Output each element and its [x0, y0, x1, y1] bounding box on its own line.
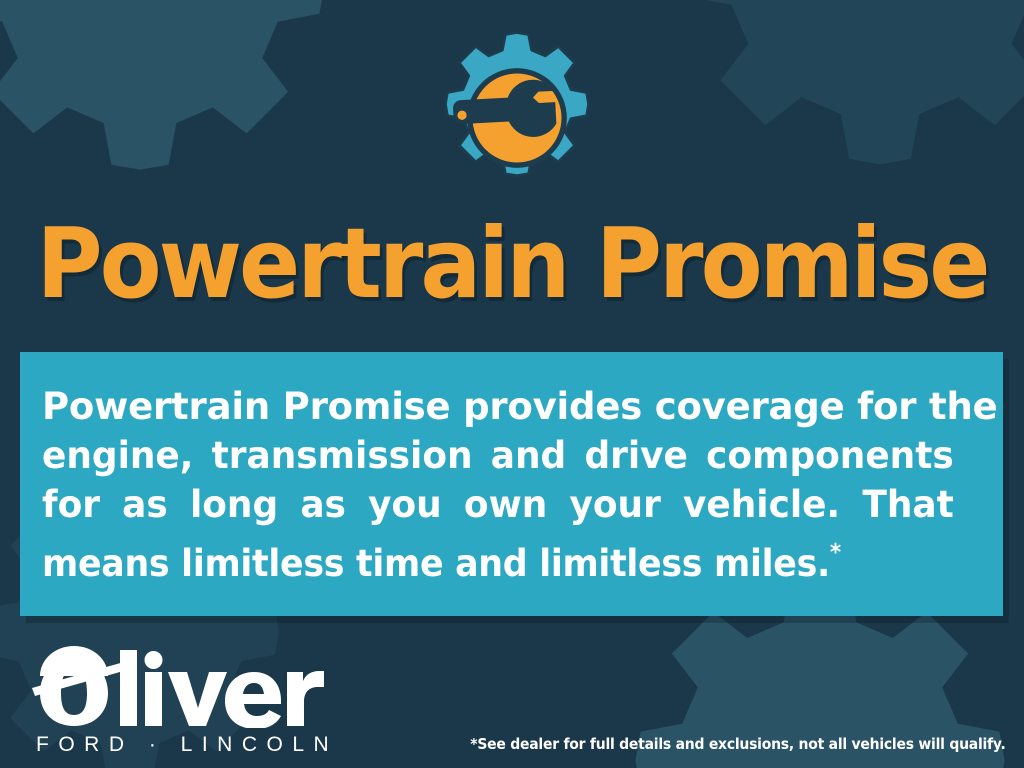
letter-i-stem [145, 672, 162, 726]
body-line-3: for as long as you own your vehicle. Tha… [42, 480, 954, 529]
oliver-wordmark [28, 640, 328, 728]
letter-l [120, 650, 137, 726]
gear-wrench-icon-svg [428, 28, 606, 208]
powertrain-promise-poster: Powertrain Promise Powertrain Promise pr… [0, 0, 1024, 768]
body-word: as [300, 480, 346, 529]
letter-r [287, 671, 324, 726]
body-word: for [42, 480, 100, 529]
description-text: Powertrain Promise provides coverage for… [42, 382, 982, 588]
body-line-4: means limitless time and limitless miles… [42, 529, 926, 588]
body-word: transmission [212, 431, 473, 480]
body-word: you [368, 480, 442, 529]
body-line-1: Powertrain Promise provides coverage for… [42, 382, 982, 431]
body-word: your [569, 480, 660, 529]
description-panel: Powertrain Promise provides coverage for… [20, 352, 1003, 616]
body-line-2: engine, transmission and drive component… [42, 431, 954, 480]
body-word: engine, [42, 431, 193, 480]
body-word: vehicle. [683, 480, 840, 529]
footnote-marker: * [830, 540, 841, 566]
dealer-logo-subtitle: FORD · LINCOLN [36, 733, 338, 757]
letter-e [225, 672, 281, 728]
body-line-4-text: means limitless time and limitless miles… [42, 542, 830, 585]
body-word: long [190, 480, 278, 529]
body-word: and [491, 431, 566, 480]
letter-v [168, 672, 227, 726]
body-word: own [464, 480, 547, 529]
gear-wrench-icon [428, 28, 606, 208]
body-word: as [122, 480, 168, 529]
body-word: drive [584, 431, 687, 480]
letter-o [40, 658, 108, 726]
letter-i-dot [145, 651, 163, 669]
page-title: Powertrain Promise [36, 215, 988, 312]
body-word: That [862, 480, 953, 529]
disclaimer-text: *See dealer for full details and exclusi… [471, 735, 1006, 753]
body-word: components [706, 431, 954, 480]
